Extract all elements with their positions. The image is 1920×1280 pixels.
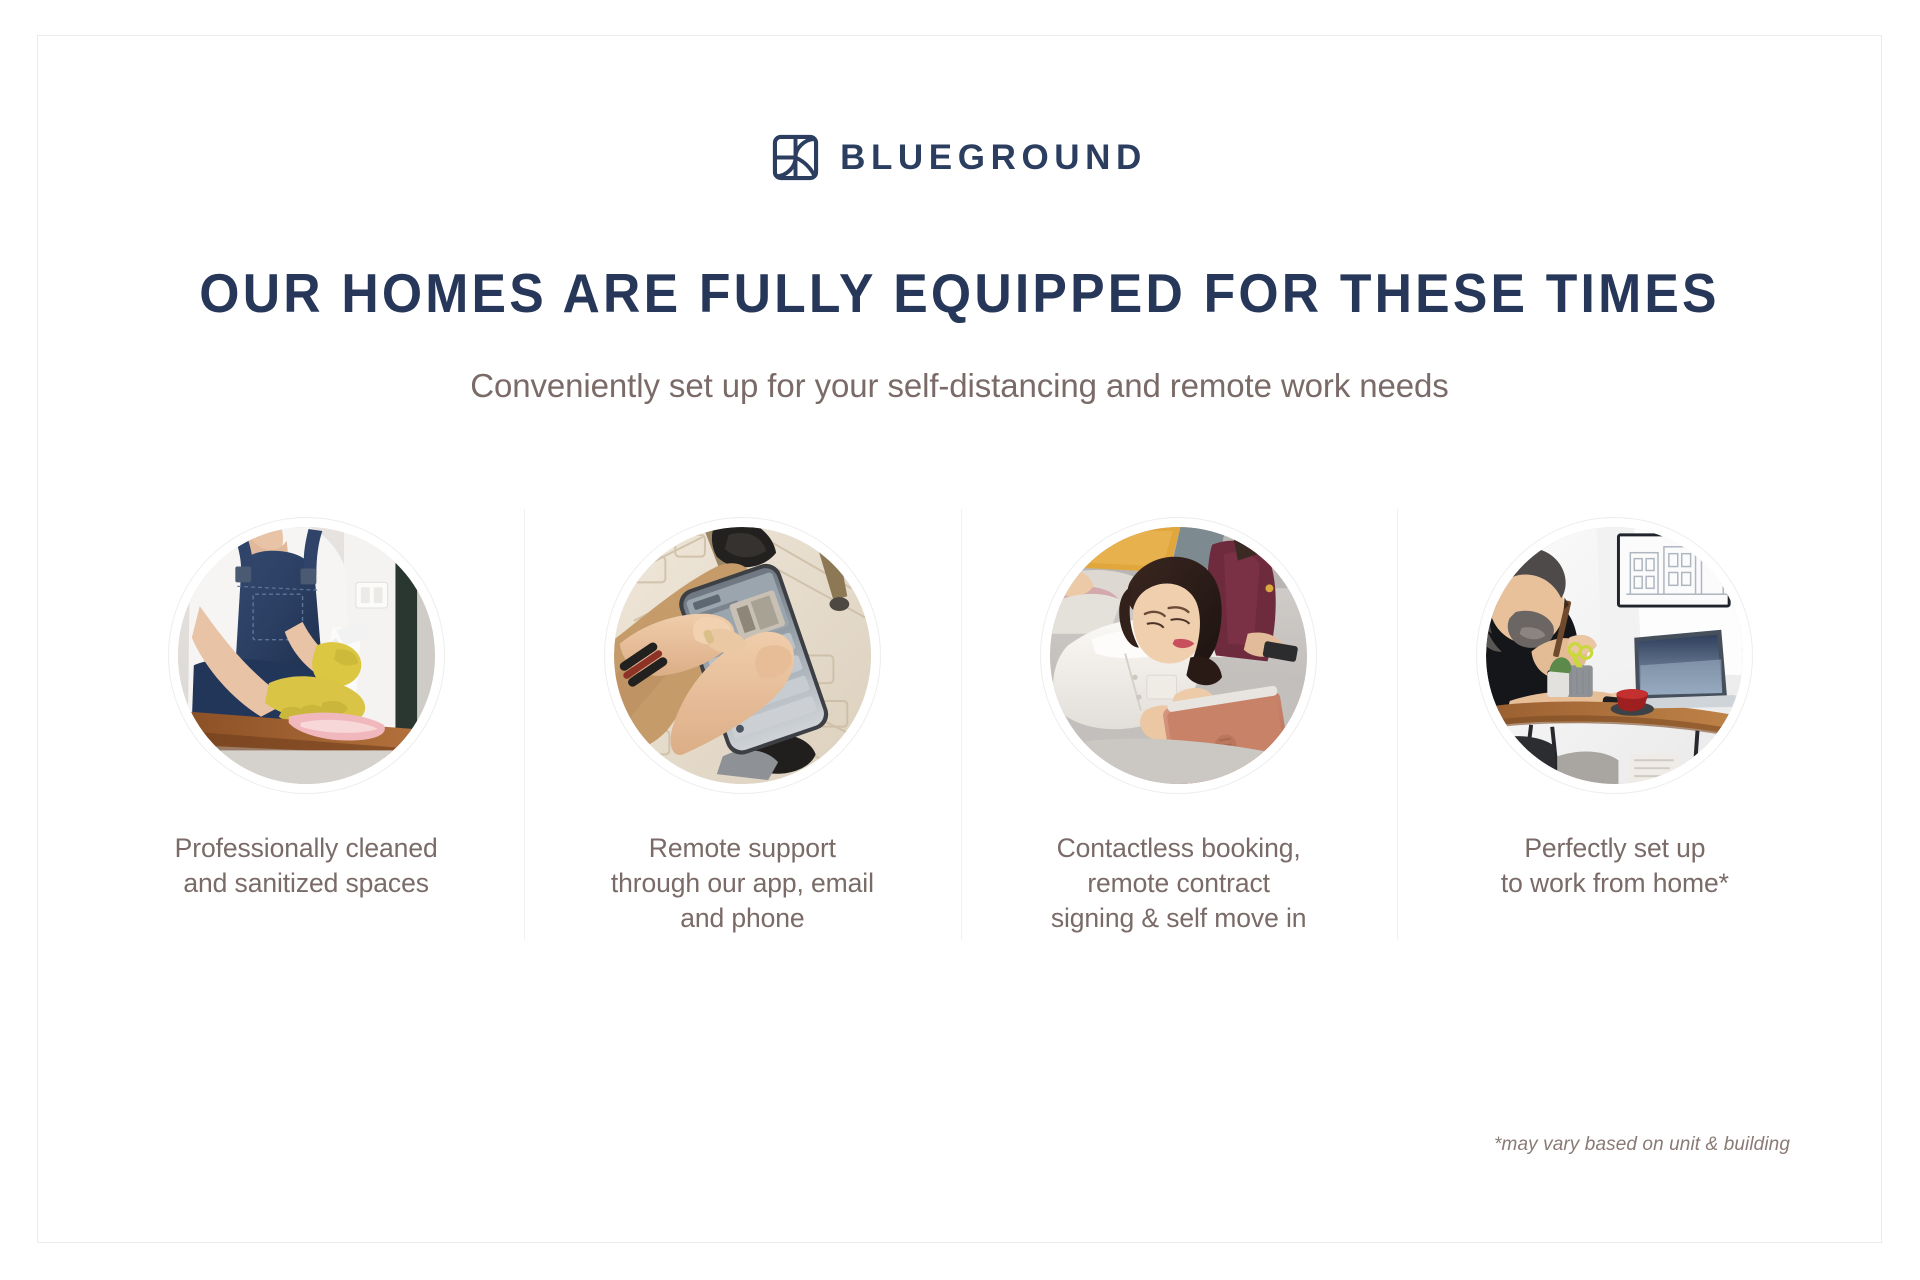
photo-remote-support-phone <box>614 527 871 784</box>
photo-professional-cleaning <box>178 527 435 784</box>
feature-caption: Contactless booking, remote contract sig… <box>1051 831 1307 936</box>
page-subtitle: Conveniently set up for your self-distan… <box>38 365 1881 406</box>
feature-caption: Professionally cleaned and sanitized spa… <box>175 831 438 901</box>
feature-column-contactless-booking: Contactless booking, remote contract sig… <box>961 506 1397 941</box>
brand-lockup: BLUEGROUND <box>38 134 1881 181</box>
photo-frame-cleaning <box>168 517 445 794</box>
photo-contactless-booking-tablet <box>1050 527 1307 784</box>
blueground-square-mark-icon <box>772 134 819 181</box>
feature-column-cleaning: Professionally cleaned and sanitized spa… <box>88 506 524 941</box>
photo-frame-remote-support <box>604 517 881 794</box>
footnote-disclaimer: *may vary based on unit & building <box>1494 1134 1790 1156</box>
page-title: OUR HOMES ARE FULLY EQUIPPED FOR THESE T… <box>93 264 1825 323</box>
feature-columns: Professionally cleaned and sanitized spa… <box>88 506 1833 941</box>
photo-frame-contactless-booking <box>1040 517 1317 794</box>
photo-work-from-home-desk <box>1486 527 1743 784</box>
feature-column-work-from-home: Perfectly set up to work from home* <box>1397 506 1833 941</box>
feature-caption: Perfectly set up to work from home* <box>1501 831 1729 901</box>
brand-wordmark: BLUEGROUND <box>840 140 1147 175</box>
photo-frame-work-from-home <box>1476 517 1753 794</box>
poster-frame: BLUEGROUND OUR HOMES ARE FULLY EQUIPPED … <box>37 35 1882 1243</box>
feature-column-remote-support: Remote support through our app, email an… <box>524 506 960 941</box>
feature-caption: Remote support through our app, email an… <box>611 831 874 936</box>
